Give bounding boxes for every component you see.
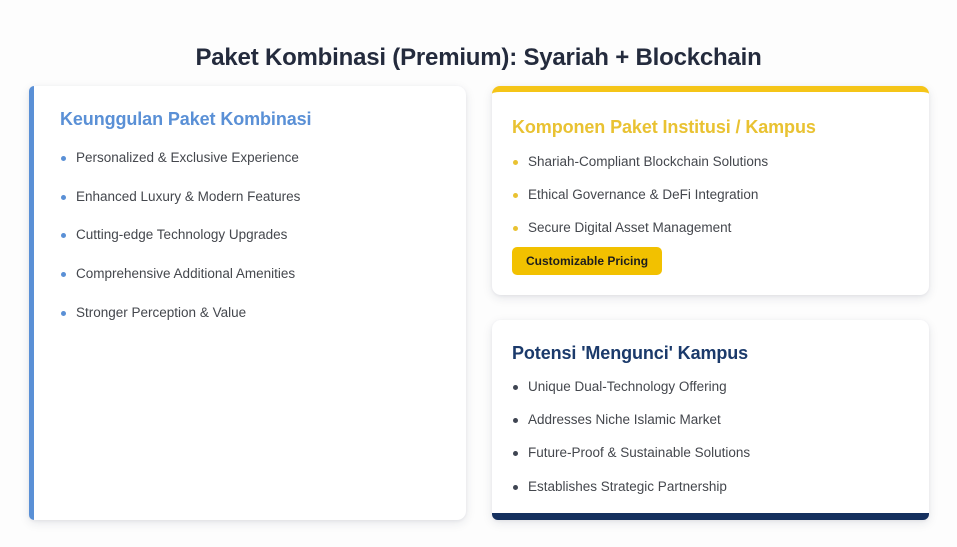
list-item-label: Cutting-edge Technology Upgrades [76, 227, 287, 242]
card-komponen-paket-heading: Komponen Paket Institusi / Kampus [512, 117, 816, 138]
bullet-dot-icon [513, 193, 518, 198]
bullet-dot-icon [61, 311, 66, 316]
list-item-label: Ethical Governance & DeFi Integration [528, 187, 758, 202]
bullet-dot-icon [61, 233, 66, 238]
bullet-dot-icon [513, 385, 518, 390]
list-item-label: Unique Dual-Technology Offering [528, 379, 727, 394]
list-item-label: Addresses Niche Islamic Market [528, 412, 721, 427]
list-item-label: Comprehensive Additional Amenities [76, 266, 295, 281]
card-potensi-mengunci: Potensi 'Mengunci' Kampus Unique Dual-Te… [492, 320, 929, 520]
list-item: Establishes Strategic Partnership [513, 479, 750, 495]
list-item-label: Personalized & Exclusive Experience [76, 150, 299, 165]
list-item-label: Secure Digital Asset Management [528, 220, 731, 235]
list-item: Enhanced Luxury & Modern Features [61, 189, 300, 205]
list-item: Comprehensive Additional Amenities [61, 266, 300, 282]
card-keunggulan-list: Personalized & Exclusive Experience Enha… [61, 150, 300, 343]
list-item: Secure Digital Asset Management [513, 220, 768, 236]
card-keunggulan: Keunggulan Paket Kombinasi Personalized … [29, 86, 466, 520]
bullet-dot-icon [61, 156, 66, 161]
list-item: Ethical Governance & DeFi Integration [513, 187, 768, 203]
list-item-label: Future-Proof & Sustainable Solutions [528, 445, 750, 460]
bullet-dot-icon [513, 485, 518, 490]
card-komponen-paket: Komponen Paket Institusi / Kampus Sharia… [492, 86, 929, 295]
list-item-label: Enhanced Luxury & Modern Features [76, 189, 300, 204]
card-keunggulan-heading: Keunggulan Paket Kombinasi [60, 109, 311, 130]
list-item: Cutting-edge Technology Upgrades [61, 227, 300, 243]
list-item: Future-Proof & Sustainable Solutions [513, 445, 750, 461]
customizable-pricing-badge[interactable]: Customizable Pricing [512, 247, 662, 275]
bullet-dot-icon [513, 418, 518, 423]
card-komponen-paket-list: Shariah-Compliant Blockchain Solutions E… [513, 154, 768, 254]
list-item: Unique Dual-Technology Offering [513, 379, 750, 395]
list-item-label: Stronger Perception & Value [76, 305, 246, 320]
list-item: Personalized & Exclusive Experience [61, 150, 300, 166]
bullet-dot-icon [513, 226, 518, 231]
bullet-dot-icon [513, 451, 518, 456]
bullet-dot-icon [513, 160, 518, 165]
card-potensi-mengunci-list: Unique Dual-Technology Offering Addresse… [513, 379, 750, 512]
list-item: Addresses Niche Islamic Market [513, 412, 750, 428]
list-item: Shariah-Compliant Blockchain Solutions [513, 154, 768, 170]
bullet-dot-icon [61, 272, 66, 277]
card-potensi-mengunci-heading: Potensi 'Mengunci' Kampus [512, 343, 748, 364]
list-item-label: Establishes Strategic Partnership [528, 479, 727, 494]
bullet-dot-icon [61, 195, 66, 200]
list-item-label: Shariah-Compliant Blockchain Solutions [528, 154, 768, 169]
page-title: Paket Kombinasi (Premium): Syariah + Blo… [0, 44, 957, 72]
list-item: Stronger Perception & Value [61, 305, 300, 321]
